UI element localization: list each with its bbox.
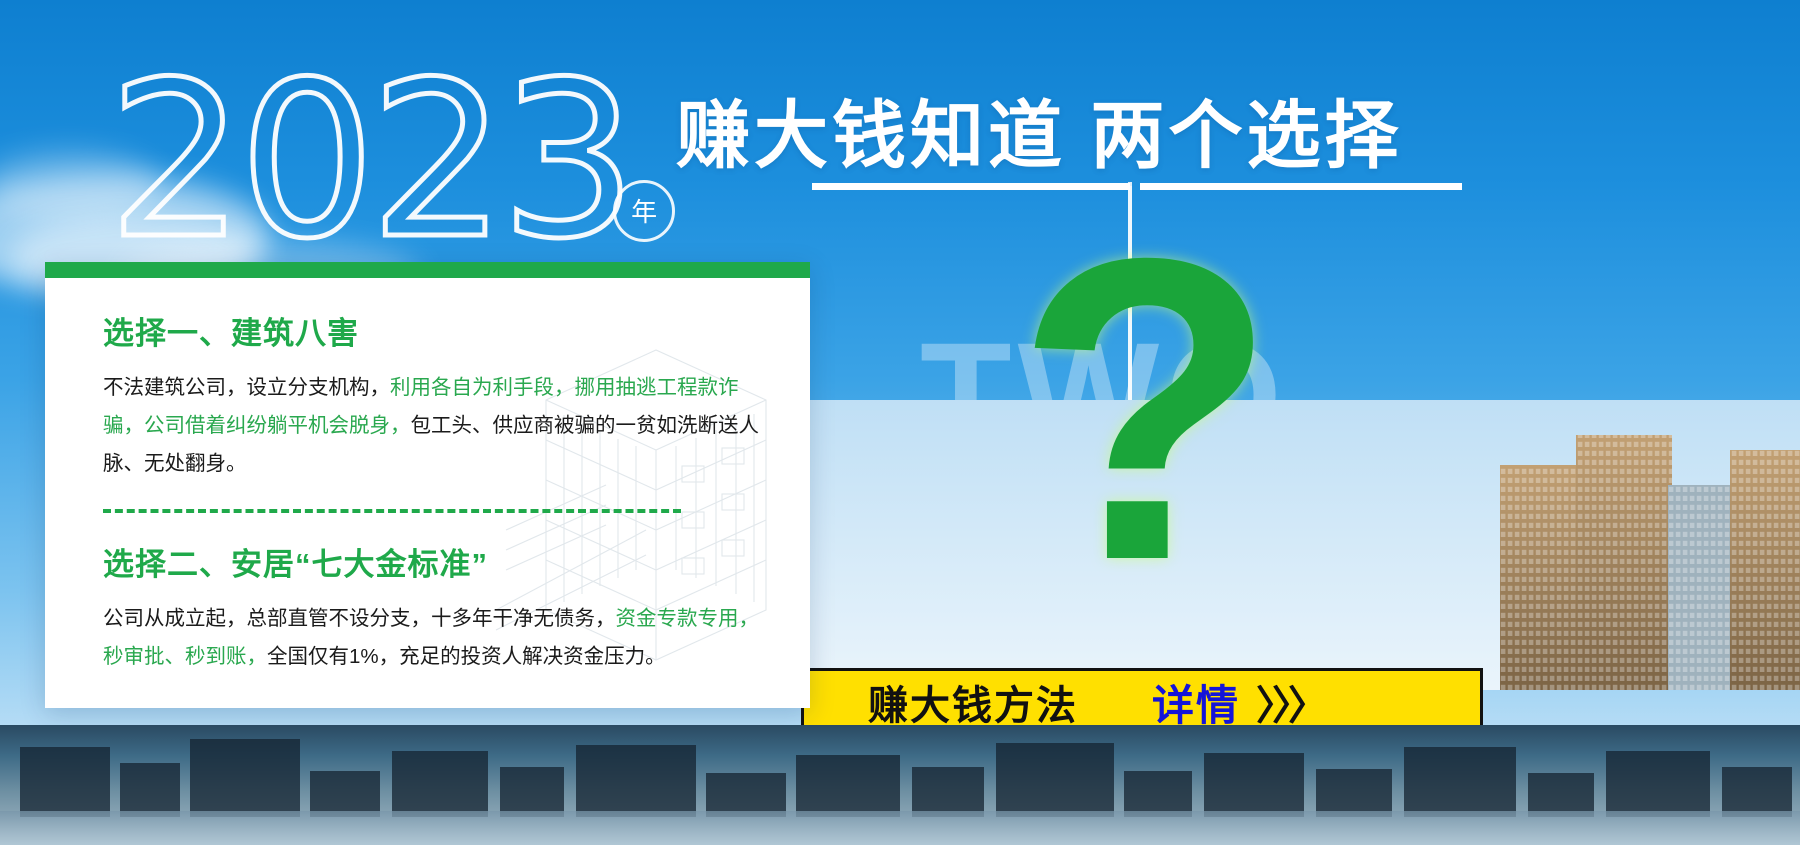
strip-building [20, 747, 110, 817]
strip-building [912, 767, 984, 817]
strip-building [120, 763, 180, 817]
content-card: 选择一、建筑八害 不法建筑公司，设立分支机构，利用各自为利手段，挪用抽逃工程款诈… [45, 262, 810, 708]
strip-building [796, 755, 900, 817]
strip-building [190, 739, 300, 817]
strip-building [500, 767, 564, 817]
text-run: 不法建筑公司，设立分支机构， [103, 376, 390, 399]
text-run: 公司从成立起，总部直管不设分支，十多年干净无债务， [103, 607, 616, 630]
strip-building [576, 745, 696, 817]
section-one-body: 不法建筑公司，设立分支机构，利用各自为利手段，挪用抽逃工程款诈骗，公司借着纠纷躺… [103, 369, 773, 483]
card-content: 选择一、建筑八害 不法建筑公司，设立分支机构，利用各自为利手段，挪用抽逃工程款诈… [103, 308, 780, 676]
water-reflection [0, 811, 1800, 845]
strip-building [1204, 753, 1304, 817]
cta-label: 赚大钱方法 [868, 673, 1078, 731]
strip-building [996, 743, 1114, 817]
text-run: 全国仅有1%，充足的投资人解决资金压力。 [267, 645, 666, 668]
promo-banner: 2023 年 赚大钱知道 两个选择 TWO CHOICES [0, 0, 1800, 845]
section-two-body: 公司从成立起，总部直管不设分支，十多年干净无债务，资金专款专用，秒审批、秒到账，… [103, 600, 773, 676]
cta-detail-link[interactable]: 详情 [1152, 672, 1240, 733]
headline: 赚大钱知道 两个选择 [676, 76, 1403, 183]
chevron-right-icon: 〉〉〉 [1256, 673, 1324, 731]
strip-building [1722, 767, 1792, 817]
section-two-title: 选择二、安居“七大金标准” [103, 539, 780, 584]
strip-building [392, 751, 488, 817]
strip-building [1606, 751, 1710, 817]
question-mark-icon: ? [1015, 195, 1275, 595]
strip-building [1316, 769, 1392, 817]
year-logo: 2023 年 [108, 62, 675, 260]
year-number: 2023 [108, 62, 631, 260]
section-one-title: 选择一、建筑八害 [103, 308, 780, 353]
right-edge-skyline [1500, 405, 1800, 690]
section-divider [103, 509, 681, 513]
bottom-photo-strip [0, 725, 1800, 845]
strip-building [1404, 747, 1516, 817]
card-top-accent-bar [45, 262, 810, 278]
